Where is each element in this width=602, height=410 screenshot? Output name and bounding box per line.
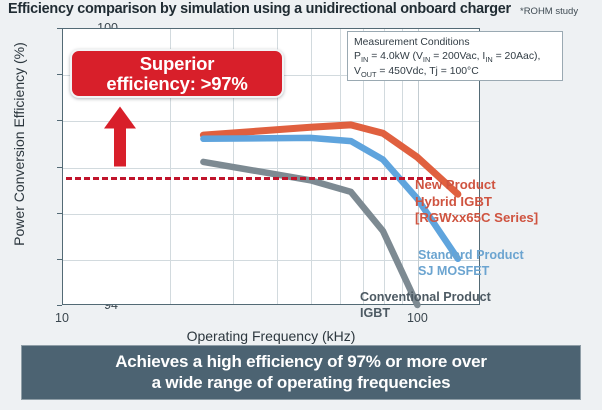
gridline-h-98 bbox=[63, 121, 479, 122]
mcond-v: V bbox=[354, 66, 361, 77]
chart-page: Efficiency comparison by simulation usin… bbox=[0, 0, 602, 410]
gridline-h-95 bbox=[63, 260, 479, 261]
legend-conv-line-1: Conventional Product bbox=[360, 290, 491, 304]
legend-conv-line-2: IGBT bbox=[360, 306, 390, 320]
mcond-val4: = 450Vdc, Tj = 100°C bbox=[377, 66, 479, 77]
superior-efficiency-callout: Superior efficiency: >97% bbox=[70, 49, 284, 98]
source-note: *ROHM study bbox=[520, 6, 578, 17]
summary-banner: Achieves a high efficiency of 97% or mor… bbox=[21, 345, 581, 400]
callout-line-1: Superior bbox=[140, 53, 214, 74]
header: Efficiency comparison by simulation usin… bbox=[8, 1, 594, 21]
legend-standard-product: Standard Product SJ MOSFET bbox=[418, 248, 524, 280]
legend-new-line-1: New Product bbox=[415, 177, 496, 192]
banner-line-2: a wide range of operating frequencies bbox=[152, 373, 451, 392]
mcond-val1: = 4.0kW (V bbox=[368, 51, 423, 62]
gridline-v-50 bbox=[311, 29, 312, 304]
page-title: Efficiency comparison by simulation usin… bbox=[8, 1, 511, 17]
legend-new-product: New Product Hybrid IGBT [RGWxx65C Series… bbox=[415, 177, 538, 227]
legend-new-line-3: [RGWxx65C Series] bbox=[415, 210, 538, 225]
banner-line-1: Achieves a high efficiency of 97% or mor… bbox=[115, 352, 487, 371]
y-axis-title: Power Conversion Efficiency (%) bbox=[11, 29, 27, 259]
mcond-line-1: PIN = 4.0kW (VIN = 200Vac, IIN = 20Aac), bbox=[354, 50, 556, 65]
reference-line-97 bbox=[66, 177, 432, 180]
gridline-h-97 bbox=[63, 168, 479, 169]
y-tick-94 bbox=[57, 305, 62, 306]
mcond-sub-in3: IN bbox=[485, 55, 492, 64]
x-axis-title: Operating Frequency (kHz) bbox=[62, 328, 480, 344]
callout-line-2: efficiency: >97% bbox=[106, 73, 247, 94]
mcond-line-2: VOUT = 450Vdc, Tj = 100°C bbox=[354, 65, 556, 80]
legend-new-line-2: Hybrid IGBT bbox=[415, 194, 492, 209]
banner-text: Achieves a high efficiency of 97% or mor… bbox=[115, 352, 487, 393]
mcond-val2: = 200Vac, I bbox=[430, 51, 485, 62]
callout-text: Superior efficiency: >97% bbox=[106, 54, 247, 94]
measurement-conditions-box: Measurement Conditions PIN = 4.0kW (VIN … bbox=[347, 31, 563, 81]
legend-std-line-2: SJ MOSFET bbox=[418, 264, 489, 278]
mcond-val3: = 20Aac), bbox=[493, 51, 541, 62]
gridline-v-60 bbox=[340, 29, 341, 304]
mcond-heading: Measurement Conditions bbox=[354, 36, 556, 50]
legend-conventional-product: Conventional Product IGBT bbox=[360, 290, 491, 322]
mcond-sub-out: OUT bbox=[361, 70, 377, 79]
x-tick-label-10: 10 bbox=[39, 311, 85, 325]
legend-std-line-1: Standard Product bbox=[418, 248, 524, 262]
mcond-p: P bbox=[354, 51, 361, 62]
chart-container: Power Conversion Efficiency (%) 94959697… bbox=[0, 20, 602, 335]
